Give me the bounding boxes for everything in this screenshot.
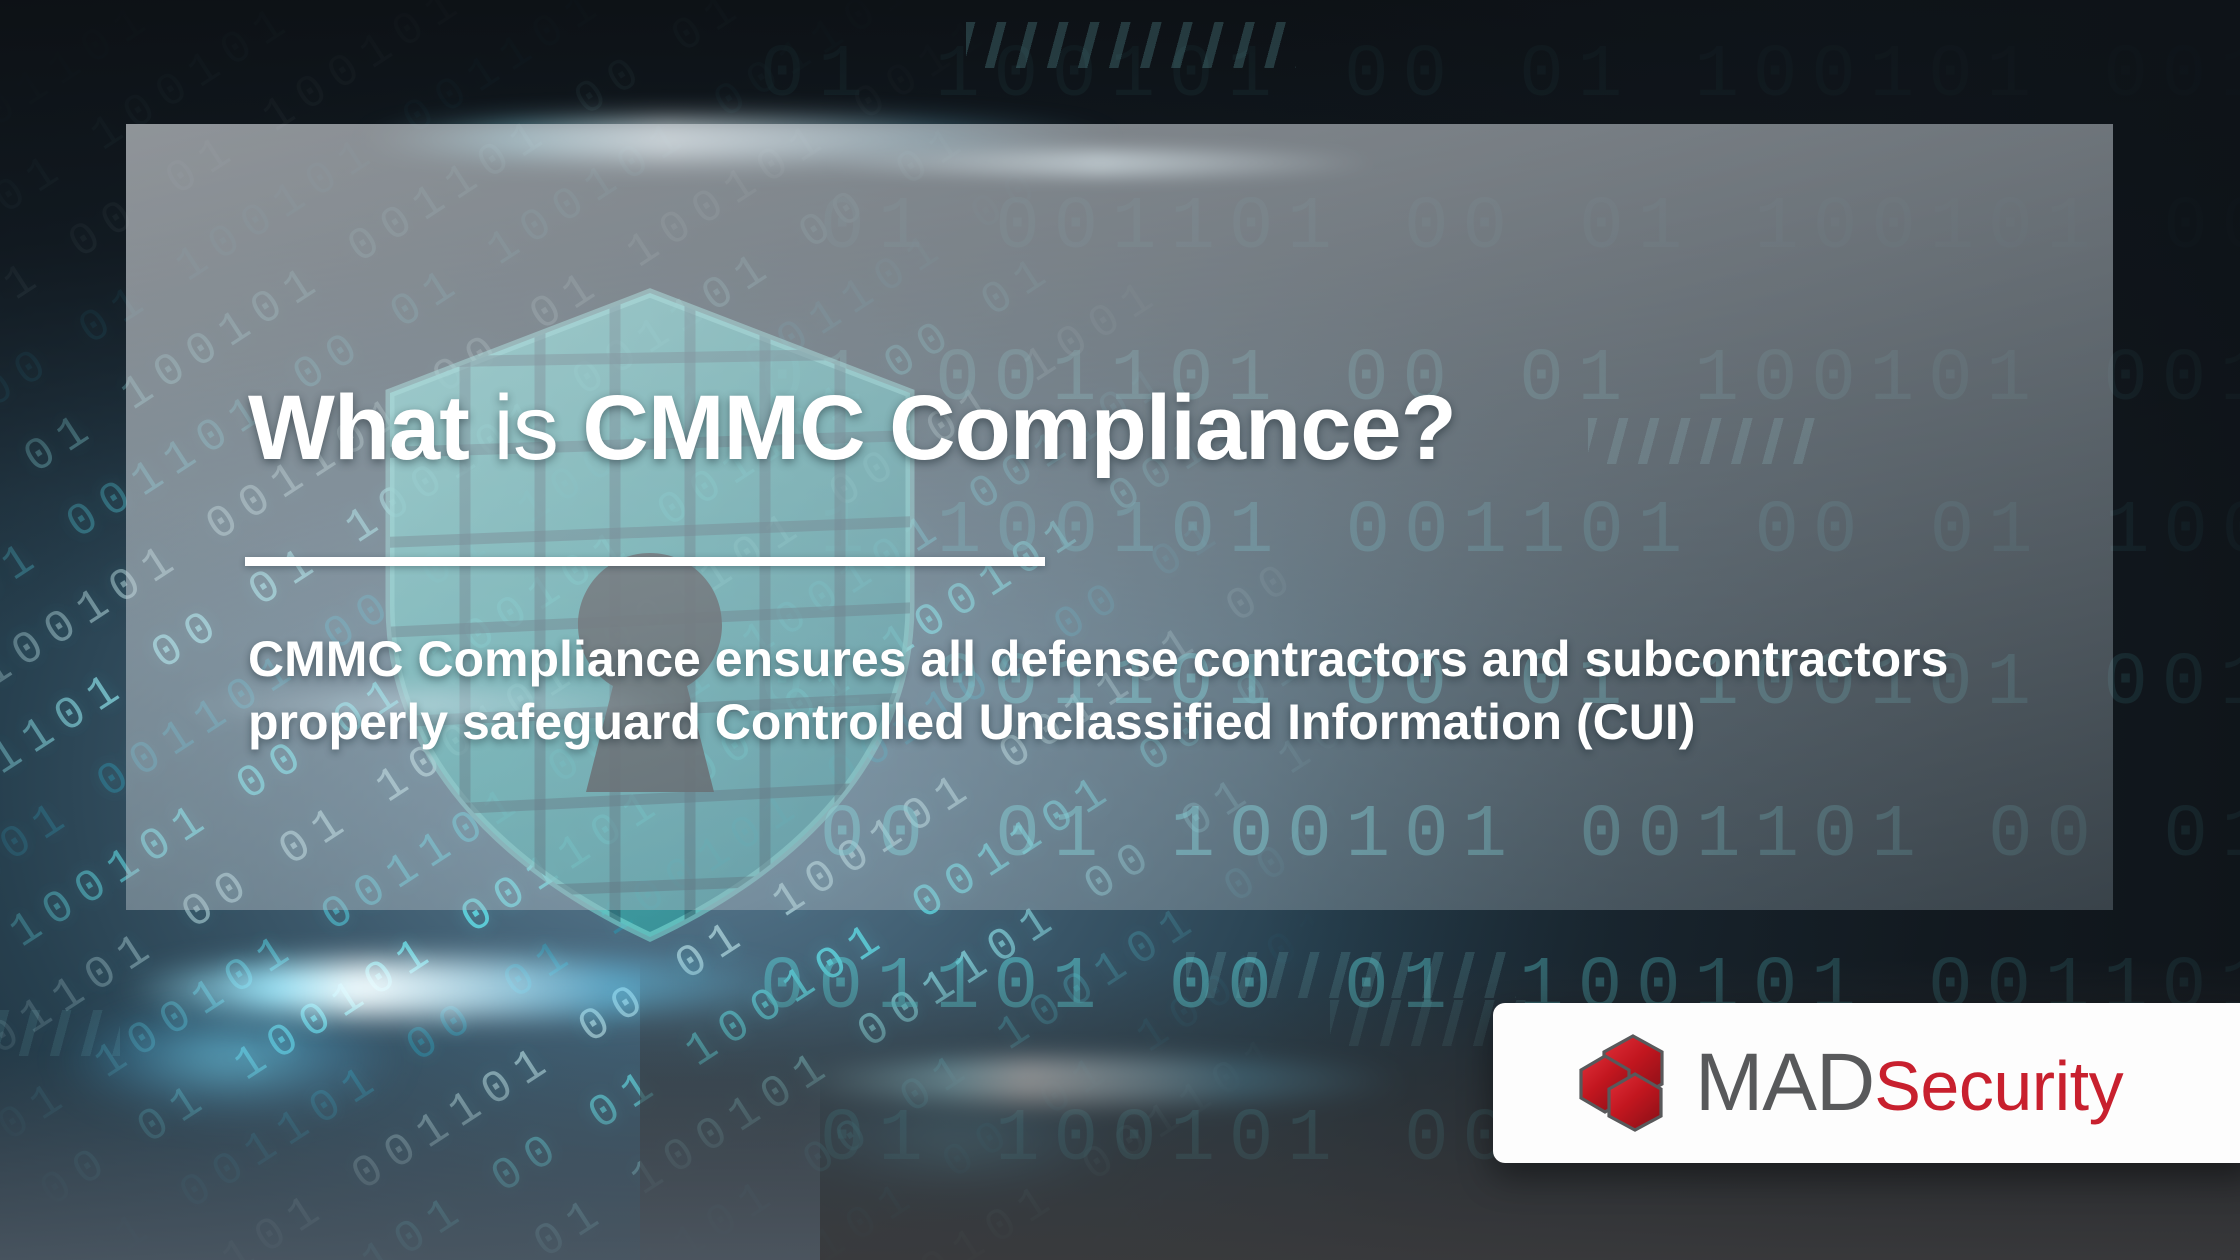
page-title: What is CMMC Compliance? — [248, 382, 1456, 476]
promo-graphic: 01 100101 001101 00 01 100101 00110100 0… — [0, 0, 2240, 1260]
brand-wordmark: MADSecurity — [1695, 1042, 2123, 1124]
content-overlay-panel — [126, 124, 2113, 910]
headline-part-3: CMMC Compliance? — [558, 377, 1456, 479]
title-divider — [245, 557, 1045, 566]
brand-name-primary: MAD — [1695, 1042, 1874, 1124]
brand-logo-card[interactable]: MADSecurity — [1493, 1003, 2240, 1163]
three-red-hexagons-icon — [1577, 1034, 1669, 1132]
subtitle-text: CMMC Compliance ensures all defense cont… — [248, 628, 1968, 754]
background-bottom-left-band — [0, 1050, 820, 1260]
brand-name-secondary: Security — [1874, 1051, 2123, 1121]
headline-part-1: What — [248, 377, 493, 479]
headline-part-2: is — [493, 377, 557, 479]
hatch-marks-icon — [966, 22, 1296, 68]
